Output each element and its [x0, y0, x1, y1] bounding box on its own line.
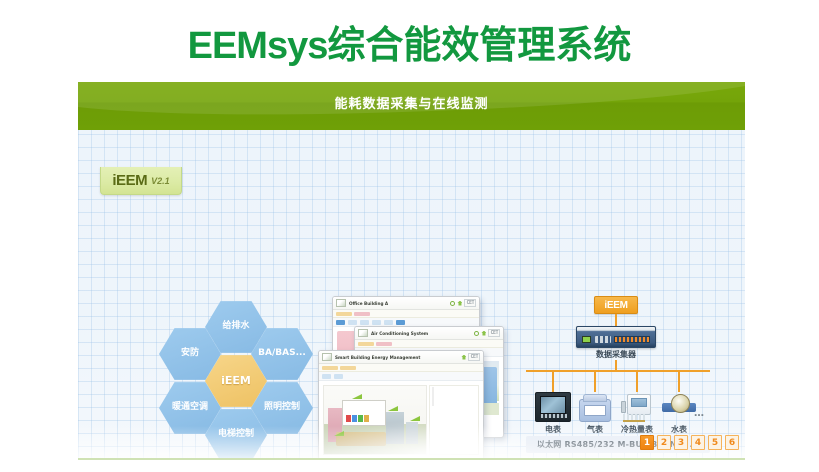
window-title: Office Building A — [349, 301, 447, 306]
version-badge-name: iEEM — [112, 172, 147, 189]
refresh-icon[interactable] — [474, 331, 479, 336]
home-icon[interactable] — [481, 331, 486, 336]
tab-pill[interactable] — [340, 366, 356, 370]
page-title-latin: EEMsys — [188, 25, 328, 67]
window-controls: CET — [450, 299, 476, 307]
refresh-icon[interactable] — [450, 301, 455, 306]
page-button-2[interactable]: 2 — [657, 435, 671, 450]
status-led-icon — [582, 336, 591, 343]
window-tabs — [319, 364, 483, 372]
toolbar-chip[interactable] — [348, 320, 357, 325]
leaf-icon — [388, 406, 398, 411]
home-icon[interactable] — [461, 355, 466, 360]
page-button-4[interactable]: 4 — [691, 435, 705, 450]
diagram-connector — [636, 372, 638, 392]
ellipsis-icon: … — [690, 408, 708, 419]
slide-canvas: EEMsys综合能效管理系统 能耗数据采集与在线监测 能耗数据采集与在线监测 i… — [0, 0, 819, 472]
window-controls: CET — [461, 353, 480, 361]
window-tabs — [333, 310, 479, 318]
tab-pill[interactable] — [358, 342, 374, 346]
diagram-connector — [594, 372, 596, 392]
chart-table — [432, 387, 434, 406]
window-titlebar: Office Building A CET — [333, 297, 479, 310]
window-toolbar — [319, 372, 483, 381]
diagram-connector — [615, 314, 617, 326]
window-controls: CET — [474, 329, 500, 337]
panel-header-title-reflection: 能耗数据采集与在线监测 — [78, 95, 745, 109]
brand-logo: CET — [464, 299, 476, 307]
data-collector-label: 数据采集器 — [576, 349, 656, 360]
content-panel: 能耗数据采集与在线监测 能耗数据采集与在线监测 iEEM V2.1 给排水 BA… — [78, 82, 745, 460]
data-collector-device-icon — [576, 326, 656, 348]
diagram-connector — [678, 372, 680, 392]
tab-pill[interactable] — [336, 312, 352, 316]
toolbar-chip[interactable] — [372, 320, 381, 325]
panel-header-bar: 能耗数据采集与在线监测 能耗数据采集与在线监测 — [78, 82, 745, 130]
version-badge: iEEM V2.1 — [100, 167, 182, 195]
brand-logo: CET — [488, 329, 500, 337]
diagram-connector — [552, 372, 554, 392]
brand-logo: CET — [468, 353, 480, 361]
heat-meter-icon — [619, 392, 655, 422]
tab-pill[interactable] — [376, 342, 392, 346]
toolbar-chip[interactable] — [384, 320, 393, 325]
leaf-icon — [352, 394, 362, 399]
toolbar-chip[interactable] — [336, 320, 345, 325]
diagram-connector — [615, 360, 617, 370]
version-badge-version: V2.1 — [151, 176, 170, 186]
panel-body: iEEM V2.1 给排水 BA/BAS... 照明控制 电梯控制 暖通空调 安… — [78, 130, 745, 460]
app-logo-icon — [322, 353, 332, 361]
device-indicator-bar — [614, 336, 650, 343]
toolbar-chip[interactable] — [322, 374, 331, 379]
app-logo-icon — [358, 329, 368, 337]
page-title-cjk: 综合能效管理系统 — [327, 23, 631, 67]
page-button-5[interactable]: 5 — [708, 435, 722, 450]
gas-meter-icon — [577, 392, 613, 422]
meter-more: … — [690, 408, 708, 419]
app-logo-icon — [336, 299, 346, 307]
window-tabs — [355, 340, 503, 348]
diagram-ieem-badge: iEEM — [594, 296, 638, 314]
home-icon[interactable] — [457, 301, 462, 306]
tab-pill[interactable] — [354, 312, 370, 316]
device-knobs-icon — [595, 336, 611, 343]
page-title: EEMsys综合能效管理系统 — [0, 14, 819, 69]
toolbar-chip[interactable] — [396, 320, 405, 325]
page-button-3[interactable]: 3 — [674, 435, 688, 450]
pagination[interactable]: 1 2 3 4 5 6 — [640, 435, 739, 450]
page-button-6[interactable]: 6 — [725, 435, 739, 450]
toolbar-chip[interactable] — [334, 374, 343, 379]
toolbar-chip[interactable] — [360, 320, 369, 325]
tab-pill[interactable] — [322, 366, 338, 370]
window-titlebar: Air Conditioning System CET — [355, 327, 503, 340]
window-title: Smart Building Energy Management — [335, 355, 458, 360]
electric-meter-icon — [535, 392, 571, 422]
page-button-1[interactable]: 1 — [640, 435, 654, 450]
window-titlebar: Smart Building Energy Management CET — [319, 351, 483, 364]
window-title: Air Conditioning System — [371, 331, 471, 336]
